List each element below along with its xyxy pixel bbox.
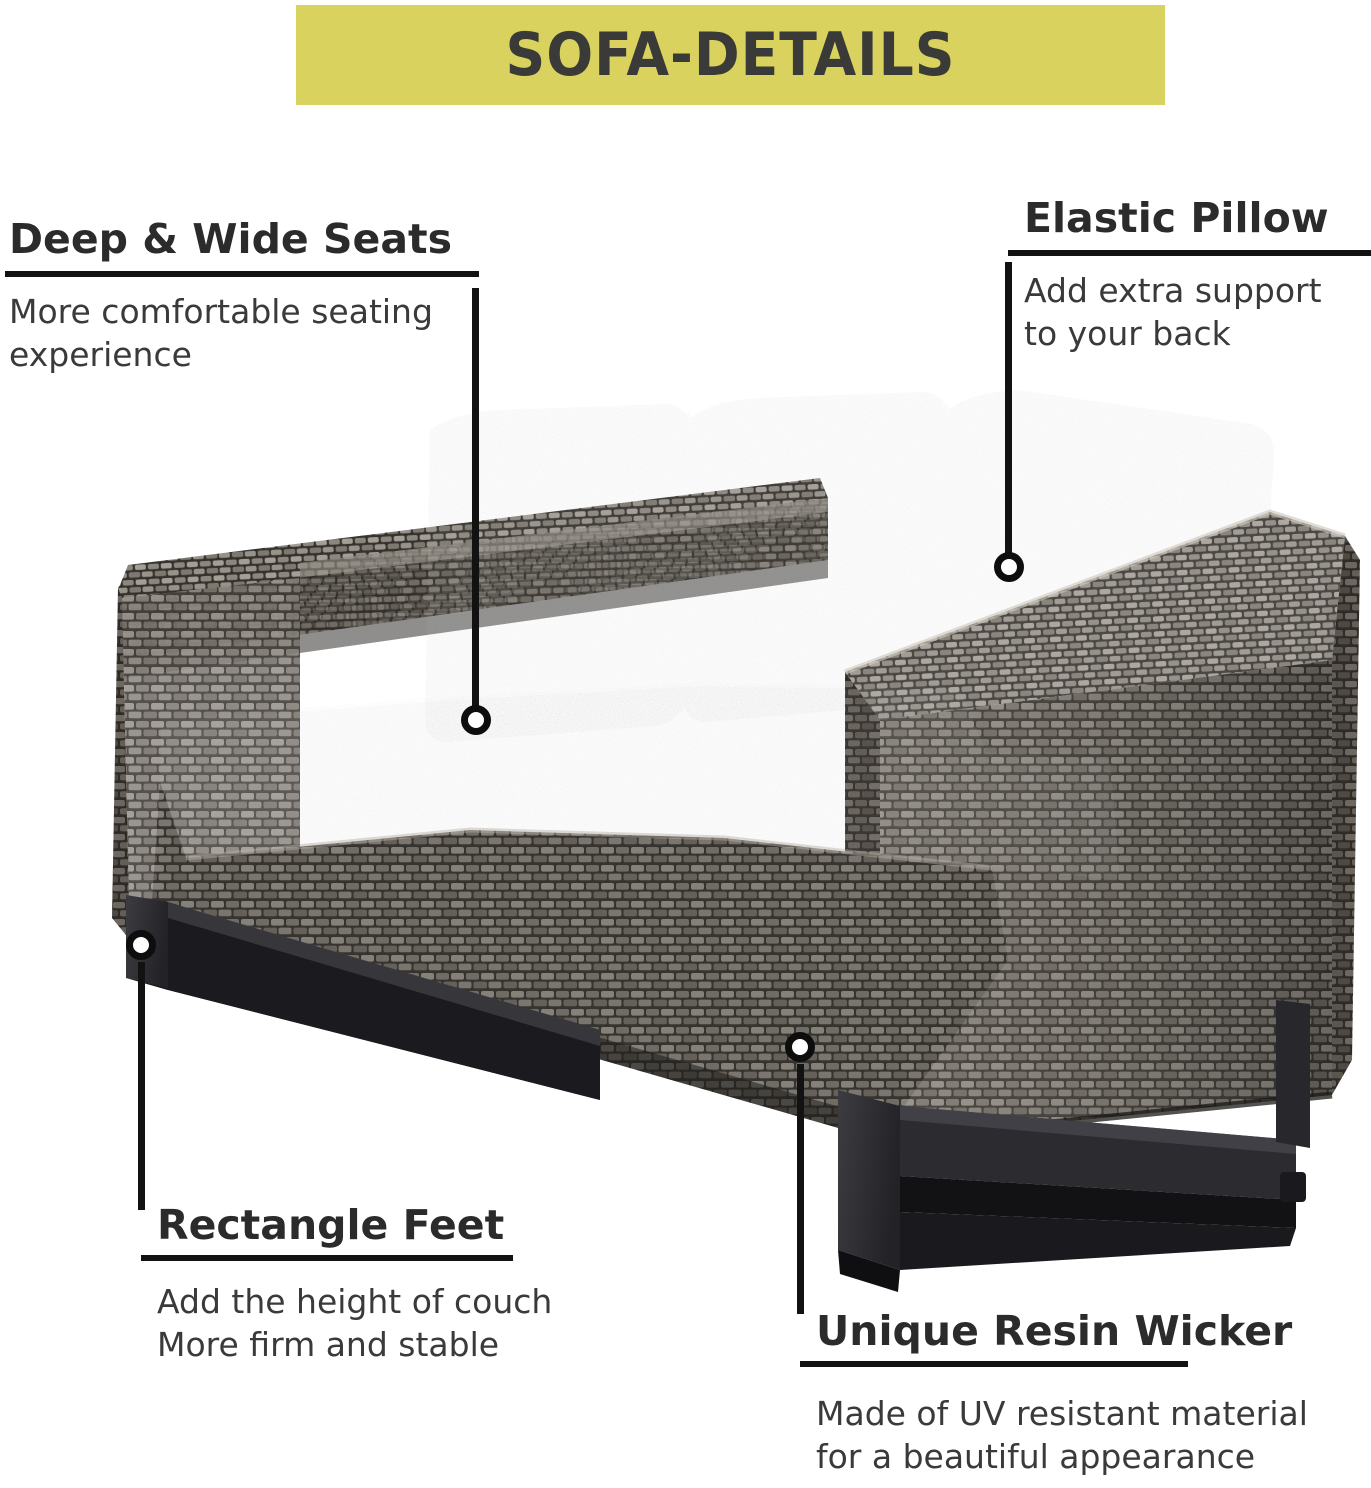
callout-dot-wicker [785, 1032, 815, 1062]
callout-body-rectangle-feet: Add the height of couch More firm and st… [141, 1281, 601, 1367]
callout-unique-resin-wicker: Unique Resin Wicker Made of UV resistant… [800, 1310, 1371, 1479]
callout-rectangle-feet: Rectangle Feet Add the height of couch M… [141, 1204, 601, 1367]
callout-dot-pillow [994, 552, 1024, 582]
callout-elastic-pillow: Elastic Pillow Add extra support to your… [1008, 197, 1371, 356]
callout-underline-unique-resin-wicker [800, 1361, 1188, 1367]
callout-underline-deep-wide-seats [5, 271, 479, 277]
callout-title-unique-resin-wicker: Unique Resin Wicker [800, 1310, 1371, 1353]
callout-dot-feet [126, 930, 156, 960]
callout-body-deep-wide-seats: More comfortable seating experience [5, 291, 479, 377]
callout-title-deep-wide-seats: Deep & Wide Seats [5, 218, 479, 261]
callout-body-elastic-pillow: Add extra support to your back [1008, 270, 1371, 356]
callout-dot-seats [461, 705, 491, 735]
callout-underline-elastic-pillow [1008, 250, 1371, 256]
callout-deep-wide-seats: Deep & Wide Seats More comfortable seati… [5, 218, 479, 377]
callout-title-elastic-pillow: Elastic Pillow [1008, 197, 1371, 240]
leader-line-wicker [797, 1064, 804, 1314]
leader-line-feet [138, 962, 145, 1210]
callout-title-rectangle-feet: Rectangle Feet [141, 1204, 601, 1247]
callout-underline-rectangle-feet [141, 1255, 513, 1261]
callout-body-unique-resin-wicker: Made of UV resistant material for a beau… [800, 1393, 1371, 1479]
